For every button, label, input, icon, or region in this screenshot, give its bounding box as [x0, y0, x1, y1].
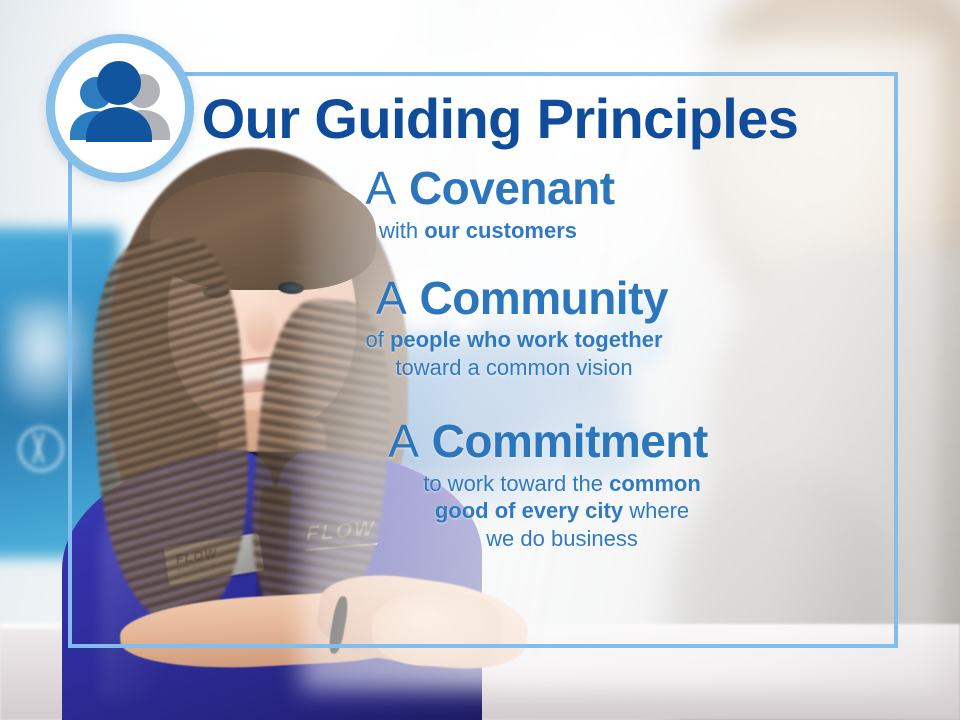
bokeh-highlight	[520, 258, 564, 302]
employee-nose	[246, 306, 276, 352]
bokeh-highlight	[560, 420, 650, 480]
guiding-principles-poster: FLOW FLOW AUTOMOTIVE Our Guiding P	[0, 0, 960, 720]
people-group-icon	[46, 34, 194, 182]
employee-hands	[372, 592, 502, 666]
bokeh-highlight	[600, 300, 670, 370]
